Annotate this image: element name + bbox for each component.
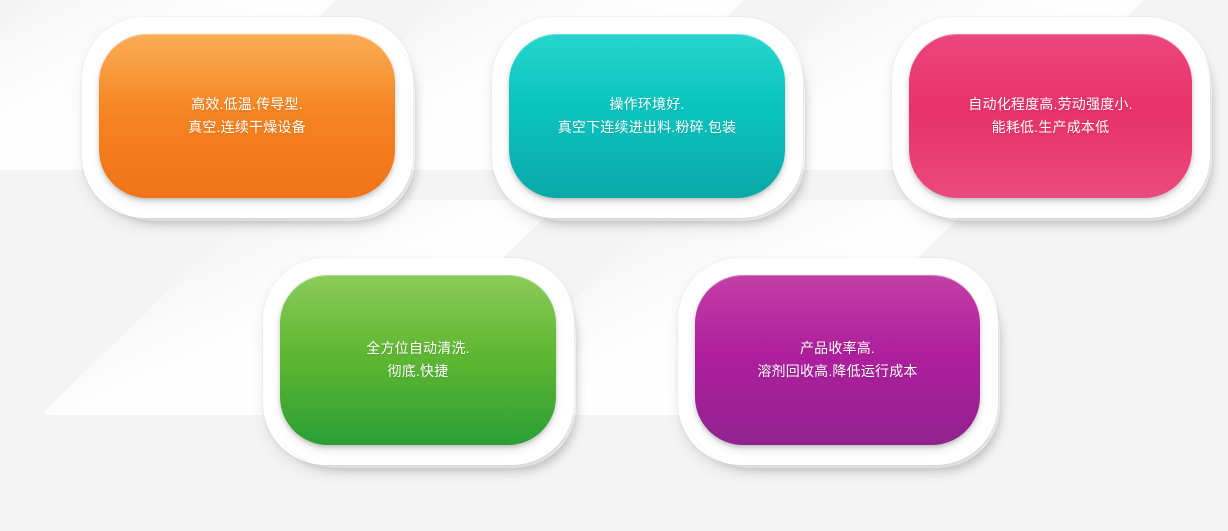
card-caption: 操作环境好. 真空下连续进出料.粉碎.包装 xyxy=(558,93,737,139)
card-panel: 自动化程度高.劳动强度小. 能耗低.生产成本低 xyxy=(909,34,1192,198)
card-caption: 高效.低温.传导型. 真空.连续干燥设备 xyxy=(188,93,306,139)
card-caption: 全方位自动清洗. 彻底.快捷 xyxy=(366,337,470,383)
card-caption-line: 全方位自动清洗. xyxy=(366,337,470,360)
feature-card-product-yield[interactable]: 产品收率高. 溶剂回收高.降低运行成本 xyxy=(678,258,998,465)
card-caption-line: 自动化程度高.劳动强度小. xyxy=(968,93,1132,116)
card-panel: 操作环境好. 真空下连续进出料.粉碎.包装 xyxy=(509,34,785,198)
infographic-stage: 高效.低温.传导型. 真空.连续干燥设备 操作环境好. 真空下连续进出料.粉碎.… xyxy=(0,0,1228,531)
feature-card-auto-cleaning[interactable]: 全方位自动清洗. 彻底.快捷 xyxy=(263,258,574,465)
card-caption-line: 彻底.快捷 xyxy=(366,360,470,383)
feature-card-automation[interactable]: 自动化程度高.劳动强度小. 能耗低.生产成本低 xyxy=(892,17,1210,218)
card-caption: 产品收率高. 溶剂回收高.降低运行成本 xyxy=(757,337,917,383)
card-caption-line: 能耗低.生产成本低 xyxy=(968,116,1132,139)
card-caption-line: 溶剂回收高.降低运行成本 xyxy=(757,360,917,383)
card-panel: 全方位自动清洗. 彻底.快捷 xyxy=(280,275,556,445)
card-caption-line: 真空.连续干燥设备 xyxy=(188,116,306,139)
feature-card-operating-environment[interactable]: 操作环境好. 真空下连续进出料.粉碎.包装 xyxy=(492,17,803,218)
card-caption: 自动化程度高.劳动强度小. 能耗低.生产成本低 xyxy=(968,93,1132,139)
card-caption-line: 操作环境好. xyxy=(558,93,737,116)
card-caption-line: 产品收率高. xyxy=(757,337,917,360)
card-caption-line: 高效.低温.传导型. xyxy=(188,93,306,116)
card-panel: 产品收率高. 溶剂回收高.降低运行成本 xyxy=(695,275,980,445)
feature-card-drying-equipment[interactable]: 高效.低温.传导型. 真空.连续干燥设备 xyxy=(82,17,413,218)
card-panel: 高效.低温.传导型. 真空.连续干燥设备 xyxy=(99,34,395,198)
card-caption-line: 真空下连续进出料.粉碎.包装 xyxy=(558,116,737,139)
